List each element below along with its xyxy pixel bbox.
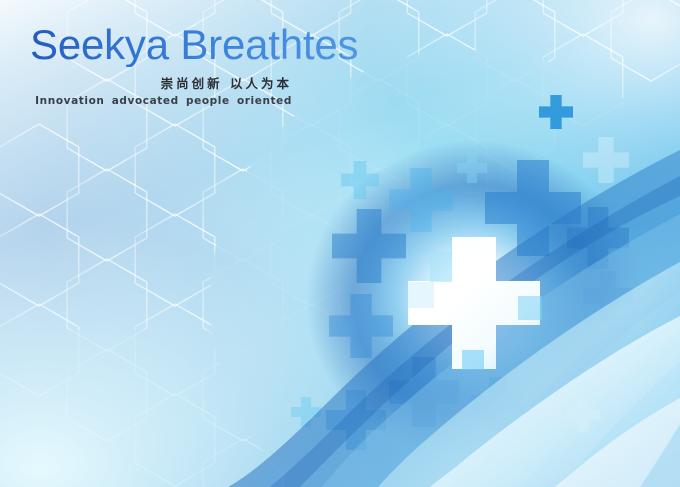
slogan-chinese: 崇尚创新 以人为本 [0,73,360,92]
brand-text-block: Seekya Breathtes 崇尚创新 以人为本 Innovation ad… [0,22,360,107]
cross-tint-b [408,282,434,308]
slogan-english: Innovation advocated people oriented [0,95,360,107]
cross-tint-d [462,350,484,370]
page-title: Seekya Breathtes [0,22,360,67]
cross-tint-c [518,296,542,320]
cross-tint-a [430,252,452,282]
poster-canvas: Seekya Breathtes 崇尚创新 以人为本 Innovation ad… [0,0,680,487]
